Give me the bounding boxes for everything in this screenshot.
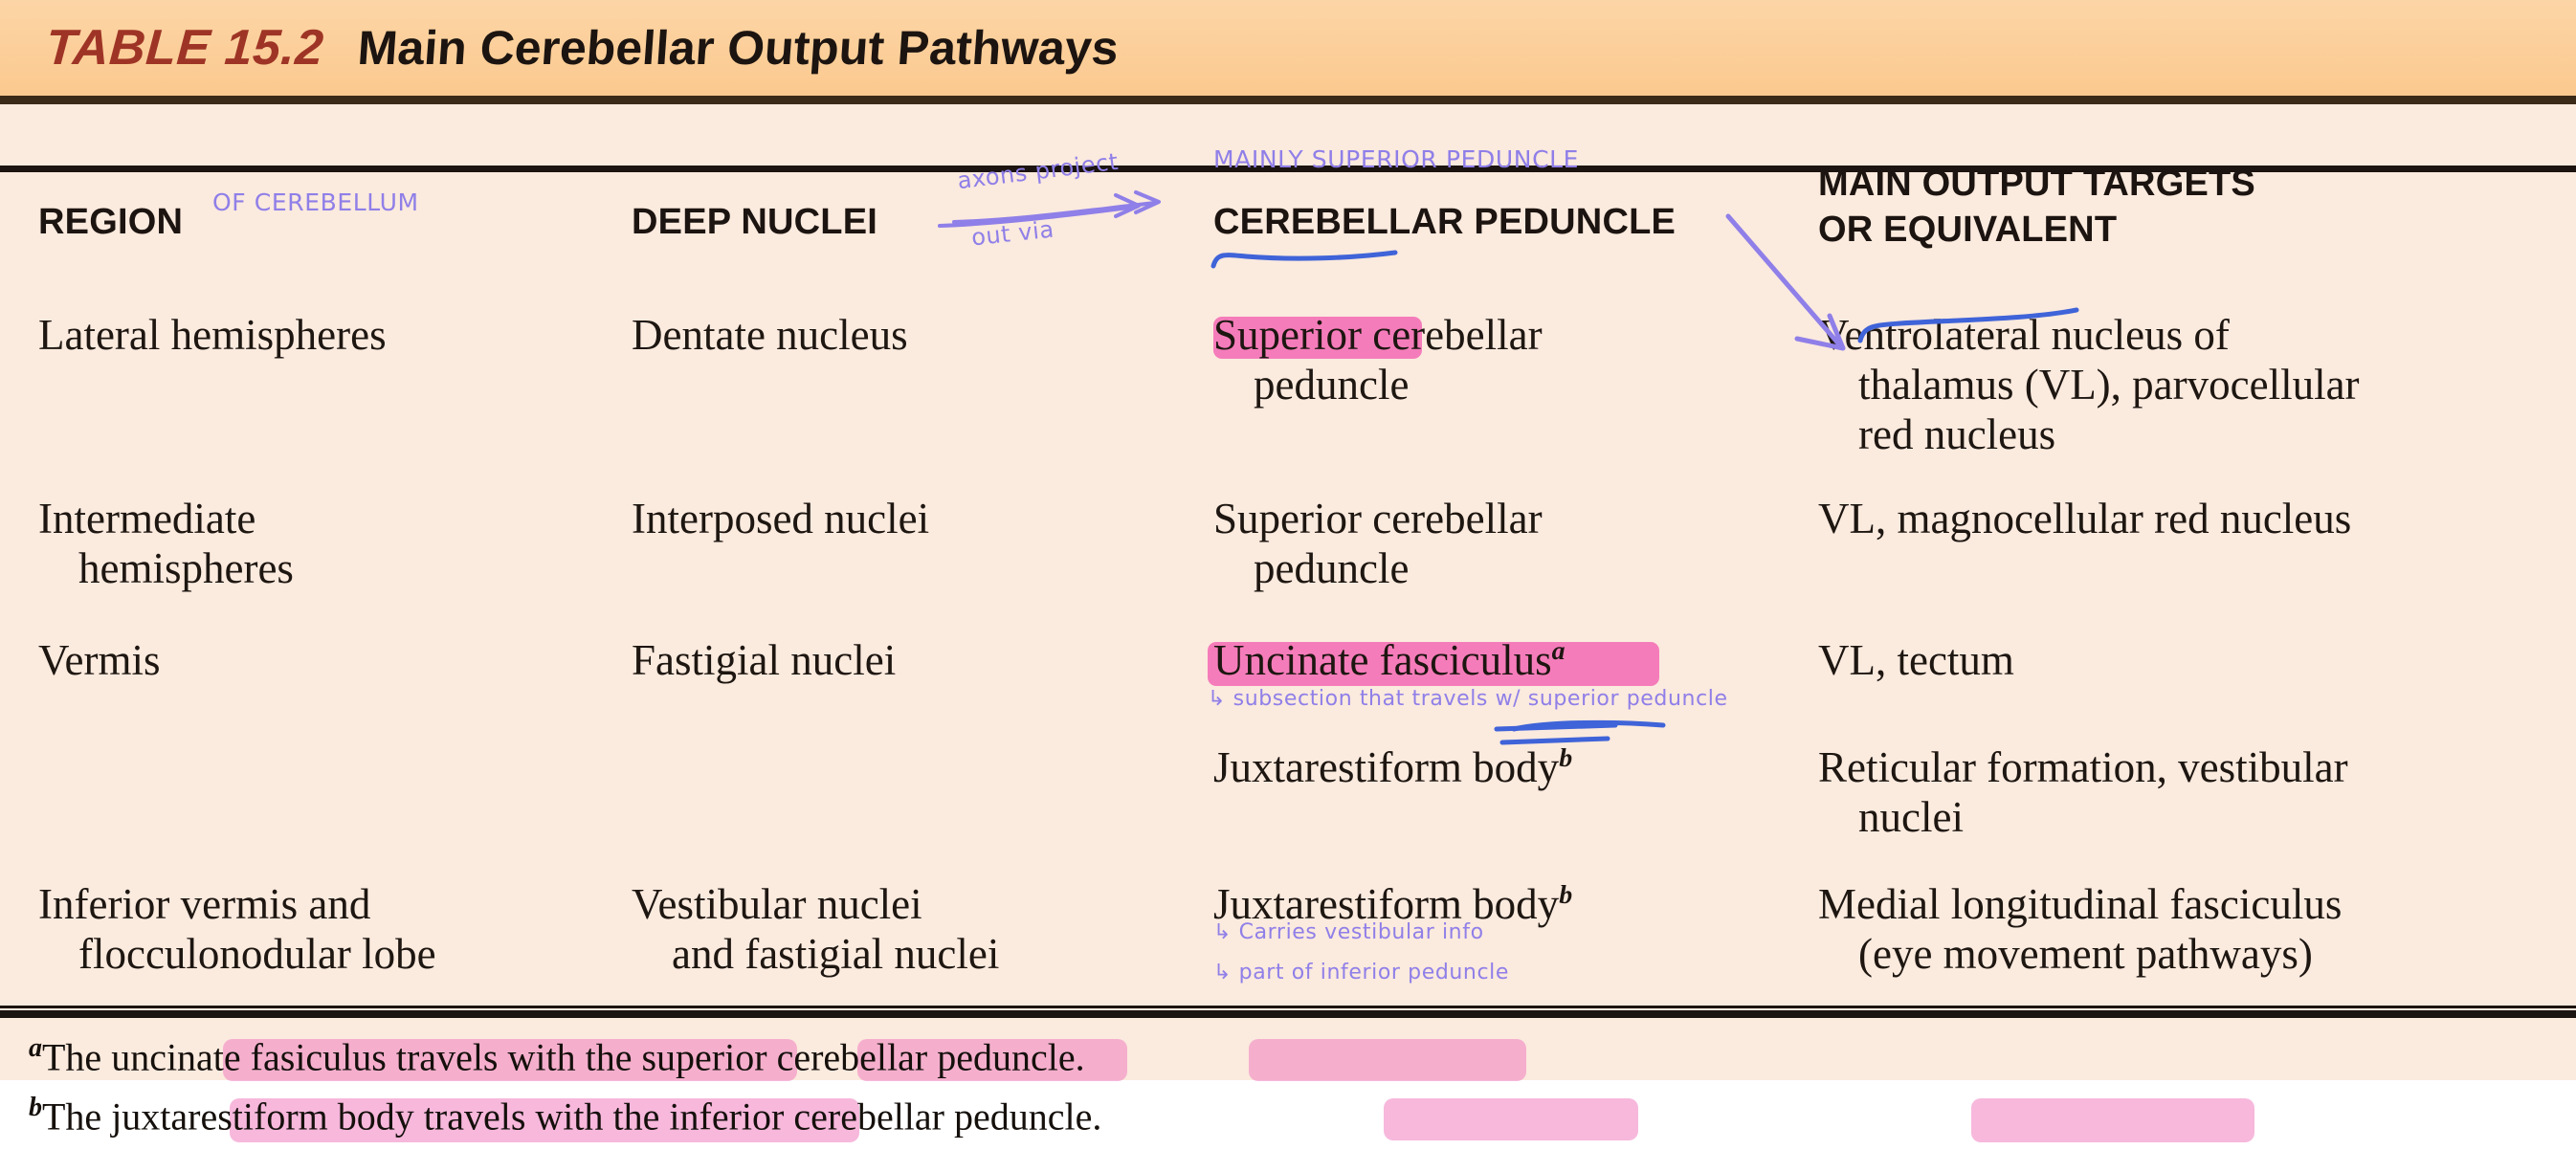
footnote-a-part2: travels with the: [387, 1035, 642, 1078]
annotation-juxta-note-line2: ↳ part of inferior peduncle: [1213, 961, 1509, 984]
footnote-a-hl3: peduncle.: [937, 1035, 1084, 1078]
annotation-region-note: of cerebellum: [212, 188, 419, 216]
footnote-b-hl2: inferior: [669, 1095, 784, 1138]
cell-peduncle-3-text: Juxtarestiform body: [1213, 743, 1559, 791]
cell-nuclei-4-line2: and fastigial nuclei: [632, 929, 1187, 979]
footnote-marker-b: b: [29, 1093, 42, 1122]
footnote-marker-b-ref-2: b: [1559, 880, 1572, 910]
footnote-a-part3: cerebellar: [767, 1035, 938, 1078]
cell-peduncle-0: Superior cerebellar: [1213, 310, 1807, 360]
footer-rule-thick: [0, 1010, 2576, 1018]
footnote-marker-a: a: [29, 1033, 42, 1063]
cell-nuclei-2: Fastigial nuclei: [632, 635, 1187, 685]
cell-region-1-line1: Intermediate: [38, 494, 612, 543]
footer-rule-thin: [0, 1006, 2576, 1008]
cell-peduncle-2: Uncinate fasciculusa: [1213, 635, 1807, 685]
footnote-a-hl2: superior: [641, 1035, 766, 1078]
cell-targets-4-line1: Medial longitudinal fasciculus: [1818, 879, 2565, 929]
footnote-b: bThe juxtarestiform body travels with th…: [29, 1093, 1101, 1139]
cell-nuclei-4-line1: Vestibular nuclei: [632, 879, 1187, 929]
footnote-a: aThe uncinate fasiculus travels with the…: [29, 1033, 1085, 1079]
cell-peduncle-0-rest: cerebellar: [1362, 311, 1543, 359]
cell-peduncle-0-line2: peduncle: [1213, 360, 1807, 409]
highlight-fn-b-3: [1971, 1098, 2254, 1142]
cell-targets-0-line3: red nucleus: [1818, 409, 2565, 459]
footnote-marker-b-ref: b: [1559, 743, 1572, 773]
footnote-b-part2: travels with the: [414, 1095, 670, 1138]
table-title-text: Main Cerebellar Output Pathways: [356, 20, 1121, 76]
annotation-juxta-note-line1: ↳ Carries vestibular info: [1213, 920, 1484, 944]
column-header-cerebellar-peduncle: CEREBELLAR PEDUNCLE: [1213, 200, 1807, 246]
footnote-marker-a-ref: a: [1552, 636, 1566, 666]
table-title-band: TABLE 15.2 Main Cerebellar Output Pathwa…: [0, 0, 2576, 96]
annotation-uncinate-note: ↳ subsection that travels w/ superior pe…: [1208, 687, 1728, 711]
cell-targets-3-line2: nuclei: [1818, 792, 2565, 842]
footnote-b-part3: cerebellar: [784, 1095, 954, 1138]
highlight-fn-b-2: [1384, 1098, 1638, 1140]
cell-region-0: Lateral hemispheres: [38, 310, 612, 360]
cell-nuclei-1: Interposed nuclei: [632, 494, 1187, 543]
footnote-b-part1: The: [42, 1095, 111, 1138]
cell-region-4-line1: Inferior vermis and: [38, 879, 612, 929]
footnote-a-hl1: uncinate fasiculus: [111, 1035, 387, 1078]
annotation-peduncle-note: mainly superior peduncle: [1213, 145, 1579, 173]
cell-peduncle-1-line2: peduncle: [1213, 543, 1807, 593]
title-bottom-rule: [0, 96, 2576, 104]
footnote-b-hl3: peduncle.: [954, 1095, 1101, 1138]
table-number-label: TABLE 15.2: [44, 19, 325, 77]
cell-targets-0-line2: thalamus (VL), parvocellular: [1818, 360, 2565, 409]
cell-nuclei-0: Dentate nucleus: [632, 310, 1187, 360]
cell-region-4-line2: flocculonodular lobe: [38, 929, 612, 979]
cell-peduncle-1-line1: Superior cerebellar: [1213, 494, 1807, 543]
cell-region-2: Vermis: [38, 635, 612, 685]
cell-peduncle-3: Juxtarestiform bodyb: [1213, 742, 1807, 792]
footnote-b-hl1: juxtarestiform body: [111, 1095, 414, 1138]
cell-targets-1: VL, magnocellular red nucleus: [1818, 494, 2565, 543]
cell-targets-4-line2: (eye movement pathways): [1818, 929, 2565, 979]
cell-targets-2: VL, tectum: [1818, 635, 2565, 685]
cell-region-1-line2: hemispheres: [38, 543, 612, 593]
footnote-a-part1: The: [42, 1035, 111, 1078]
column-header-deep-nuclei: DEEP NUCLEI: [632, 200, 1187, 246]
table-figure: TABLE 15.2 Main Cerebellar Output Pathwa…: [0, 0, 2576, 1150]
cell-peduncle-2-text: Uncinate fasciculus: [1213, 636, 1552, 684]
column-header-main-output-line2: OR EQUIVALENT: [1818, 208, 2565, 254]
cell-peduncle-0-superior: Superior: [1213, 311, 1362, 359]
cell-targets-3-line1: Reticular formation, vestibular: [1818, 742, 2565, 792]
cell-targets-0-line1: Ventrolateral nucleus of: [1818, 310, 2565, 360]
